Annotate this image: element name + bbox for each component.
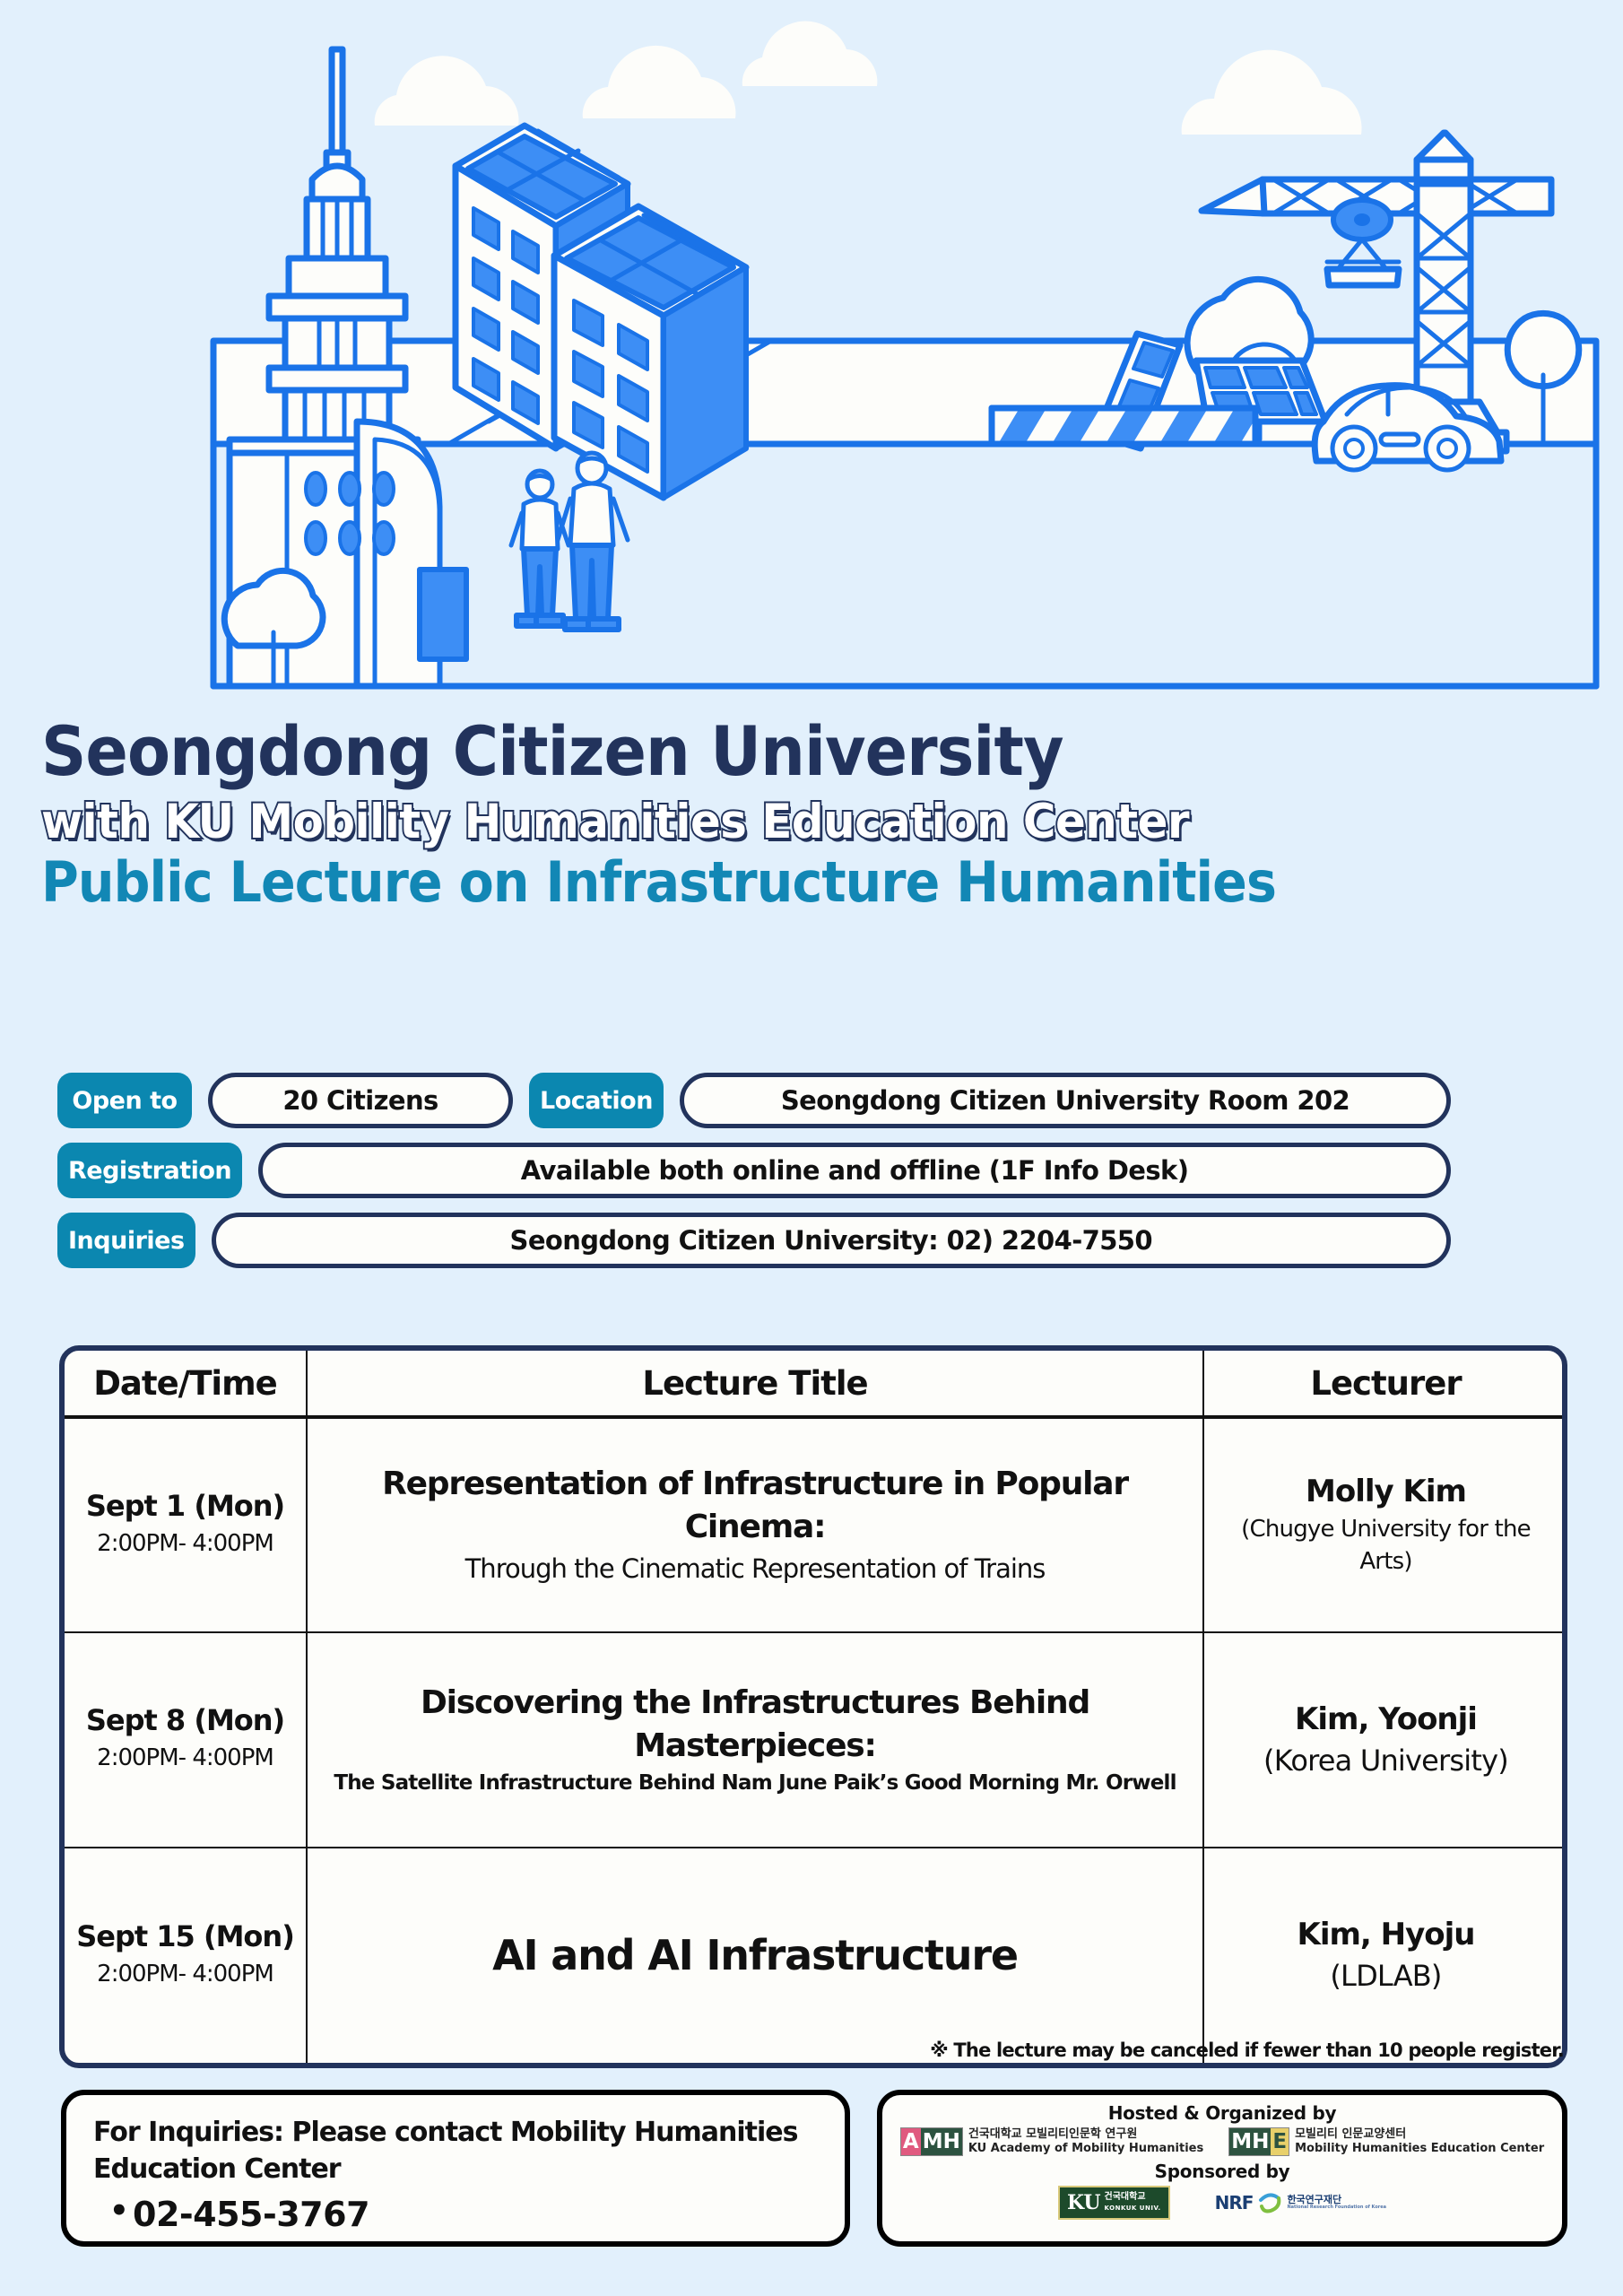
hosted-heading: Hosted & Organized by: [893, 2102, 1551, 2124]
lecture-schedule-table: Date/Time Lecture Title Lecturer Sept 1 …: [59, 1345, 1567, 2068]
date-time: 2:00PM- 4:00PM: [65, 1740, 305, 1778]
organizers-box: Hosted & Organized by A MH 건국대학교 모빌리티인문학…: [877, 2090, 1567, 2247]
child-figure: [511, 471, 568, 626]
amh-mark-mh: MH: [921, 2128, 962, 2155]
mhe-mark-e: E: [1271, 2128, 1289, 2155]
mhe-logo: MH E 모빌리티 인문교양센터 Mobility Humanities Edu…: [1228, 2127, 1544, 2157]
nrf-text: 한국연구재단 National Research Foundation of K…: [1287, 2195, 1386, 2211]
konkuk-university-logo: KU 건국대학교 KONKUK UNIV.: [1058, 2186, 1170, 2220]
amh-mark-a: A: [901, 2128, 921, 2155]
badge-value-open-to: 20 Citizens: [208, 1073, 513, 1128]
column-header-lecturer: Lecturer: [1203, 1351, 1567, 1417]
contact-line-2: Education Center: [93, 2152, 818, 2188]
title-group: Seongdong Citizen University with KU Mob…: [41, 717, 1593, 910]
ku-name-en: KONKUK UNIV.: [1105, 2205, 1161, 2212]
ku-letters: KU: [1067, 2191, 1101, 2214]
ku-name-kr: 건국대학교: [1105, 2192, 1146, 2202]
cell-date: Sept 15 (Mon) 2:00PM- 4:00PM: [65, 1848, 307, 2063]
date-time: 2:00PM- 4:00PM: [65, 1526, 305, 1563]
nrf-letters: NRF: [1215, 2192, 1254, 2213]
lecture-title-main: Representation of Infrastructure in Popu…: [308, 1463, 1202, 1550]
contact-box: For Inquiries: Please contact Mobility H…: [61, 2090, 850, 2247]
lecturer-name: Kim, Yoonji: [1205, 1700, 1567, 1741]
nrf-logo: NRF 한국연구재단 National Research Foundation …: [1215, 2191, 1386, 2214]
badge-label-open-to: Open to: [57, 1073, 192, 1128]
nrf-name-kr: 한국연구재단: [1287, 2194, 1341, 2205]
badge-label-registration: Registration: [57, 1143, 242, 1198]
lecturer-name: Kim, Hyoju: [1205, 1915, 1567, 1956]
info-row-inquiries: Inquiries Seongdong Citizen University: …: [57, 1213, 1451, 1268]
amh-name-kr: 건국대학교 모빌리티인문학 연구원: [968, 2127, 1137, 2141]
contact-phone: 02-455-3767: [93, 2195, 818, 2234]
pedestrians: [511, 453, 628, 630]
cell-lecturer: Kim, Yoonji (Korea University): [1203, 1632, 1567, 1848]
nrf-name-en: National Research Foundation of Korea: [1287, 2205, 1386, 2211]
mhe-name-en: Mobility Humanities Education Center: [1295, 2142, 1544, 2155]
cell-date: Sept 1 (Mon) 2:00PM- 4:00PM: [65, 1417, 307, 1632]
table-header-row: Date/Time Lecture Title Lecturer: [65, 1351, 1567, 1417]
amh-logo-text: 건국대학교 모빌리티인문학 연구원 KU Academy of Mobility…: [968, 2127, 1203, 2157]
column-header-title: Lecture Title: [307, 1351, 1203, 1417]
cell-lecturer: Kim, Hyoju (LDLAB): [1203, 1848, 1567, 2063]
lecture-title-sub: Through the Cinematic Representation of …: [308, 1550, 1202, 1587]
ku-text: 건국대학교 KONKUK UNIV.: [1105, 2192, 1161, 2213]
lecture-title-main: AI and AI Infrastructure: [308, 1927, 1202, 1983]
mhe-logo-mark: MH E: [1228, 2127, 1289, 2156]
date-time: 2:00PM- 4:00PM: [65, 1956, 305, 1994]
date-day: Sept 15 (Mon): [65, 1918, 305, 1956]
lecturer-affiliation: (LDLAB): [1205, 1956, 1567, 1996]
page-subtitle: with KU Mobility Humanities Education Ce…: [41, 798, 1499, 846]
cell-lecturer: Molly Kim (Chugye University for the Art…: [1203, 1417, 1567, 1632]
cell-date: Sept 8 (Mon) 2:00PM- 4:00PM: [65, 1632, 307, 1848]
badge-value-registration: Available both online and offline (1F In…: [258, 1143, 1451, 1198]
cancellation-note: ※ The lecture may be canceled if fewer t…: [930, 2039, 1564, 2061]
info-row-registration: Registration Available both online and o…: [57, 1143, 1451, 1198]
lecturer-name: Molly Kim: [1205, 1472, 1567, 1513]
host-logo-row: A MH 건국대학교 모빌리티인문학 연구원 KU Academy of Mob…: [893, 2127, 1551, 2157]
contact-line-1: For Inquiries: Please contact Mobility H…: [93, 2115, 818, 2152]
badge-label-location: Location: [529, 1073, 664, 1128]
city-illustration: .ln { fill:none; stroke:#1a73e8; stroke-…: [0, 0, 1623, 717]
badge-value-inquiries: Seongdong Citizen University: 02) 2204-7…: [212, 1213, 1451, 1268]
cell-title: Discovering the Infrastructures Behind M…: [307, 1632, 1203, 1848]
amh-logo-mark: A MH: [900, 2127, 963, 2156]
lecture-title-sub: The Satellite Infrastructure Behind Nam …: [308, 1769, 1202, 1798]
cell-title: Representation of Infrastructure in Popu…: [307, 1417, 1203, 1632]
badge-value-location: Seongdong Citizen University Room 202: [680, 1073, 1451, 1128]
badge-label-inquiries: Inquiries: [57, 1213, 195, 1268]
cloud-icon: [375, 22, 1362, 135]
amh-name-en: KU Academy of Mobility Humanities: [968, 2142, 1203, 2155]
mhe-logo-text: 모빌리티 인문교양센터 Mobility Humanities Educatio…: [1295, 2127, 1544, 2157]
date-day: Sept 1 (Mon): [65, 1488, 305, 1526]
amh-logo: A MH 건국대학교 모빌리티인문학 연구원 KU Academy of Mob…: [900, 2127, 1203, 2157]
info-badges: Open to 20 Citizens Location Seongdong C…: [57, 1073, 1451, 1283]
page-title: Seongdong Citizen University: [41, 717, 1469, 786]
lecturer-affiliation: (Korea University): [1205, 1741, 1567, 1781]
sponsor-logo-row: KU 건국대학교 KONKUK UNIV. NRF 한국연구재단 Nationa…: [893, 2186, 1551, 2220]
table-row: Sept 8 (Mon) 2:00PM- 4:00PM Discovering …: [65, 1632, 1567, 1848]
lecturer-affiliation: (Chugye University for the Arts): [1205, 1513, 1567, 1578]
table-row: Sept 15 (Mon) 2:00PM- 4:00PM AI and AI I…: [65, 1848, 1567, 2063]
mhe-name-kr: 모빌리티 인문교양센터: [1295, 2127, 1406, 2141]
page-tertiary-title: Public Lecture on Infrastructure Humanit…: [41, 855, 1469, 910]
table-row: Sept 1 (Mon) 2:00PM- 4:00PM Representati…: [65, 1417, 1567, 1632]
lecture-title-main: Discovering the Infrastructures Behind M…: [308, 1682, 1202, 1769]
cell-title: AI and AI Infrastructure: [307, 1848, 1203, 2063]
sponsored-heading: Sponsored by: [893, 2161, 1551, 2182]
info-row-open-location: Open to 20 Citizens Location Seongdong C…: [57, 1073, 1451, 1128]
mhe-mark-mh: MH: [1229, 2128, 1271, 2155]
nrf-swirl-icon: [1258, 2191, 1281, 2214]
column-header-date: Date/Time: [65, 1351, 307, 1417]
date-day: Sept 8 (Mon): [65, 1702, 305, 1740]
barrier-icon: [992, 404, 1264, 448]
